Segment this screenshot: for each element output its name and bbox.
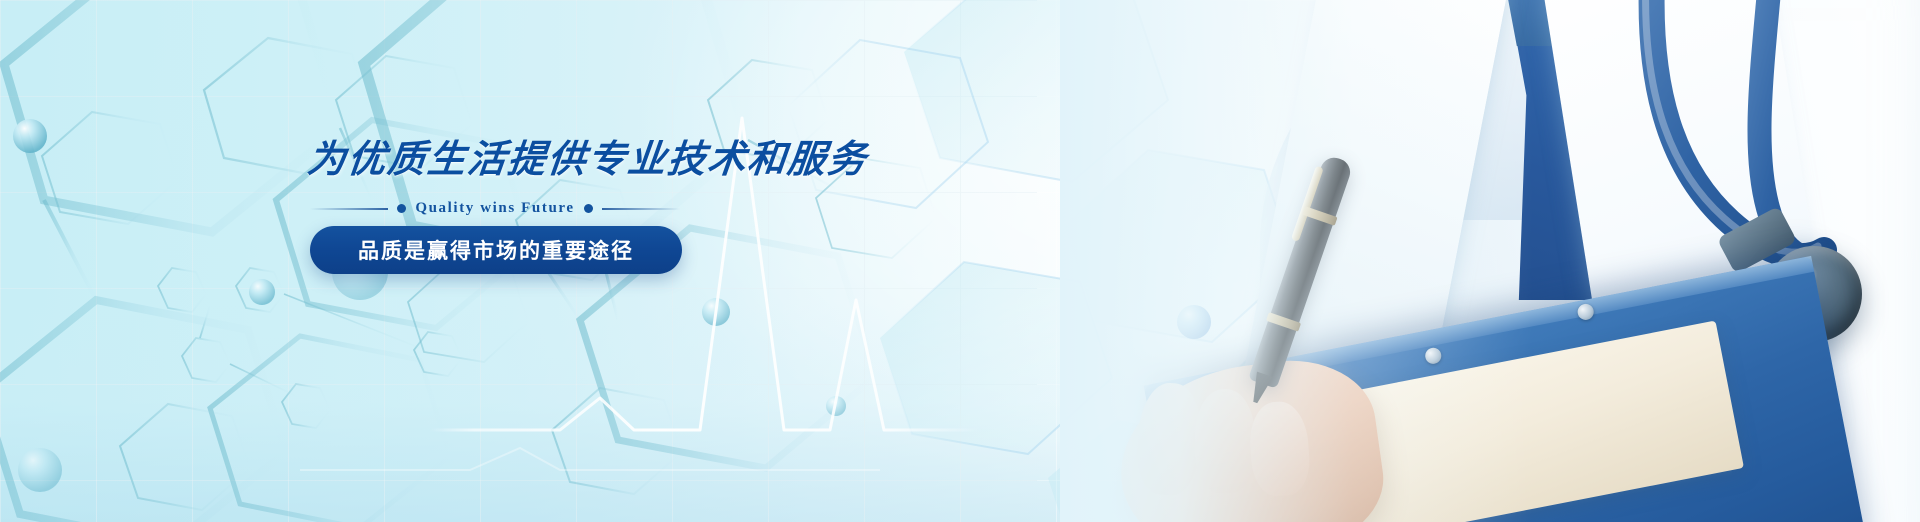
subtitle-row: Quality wins Future bbox=[310, 200, 680, 217]
hero-banner: 为优质生活提供专业技术和服务 Quality wins Future 品质是赢得… bbox=[0, 0, 1920, 522]
decorative-dot-right bbox=[584, 204, 593, 213]
decorative-dot-left bbox=[397, 204, 406, 213]
decorative-line-right bbox=[602, 208, 680, 210]
banner-content: 为优质生活提供专业技术和服务 Quality wins Future 品质是赢得… bbox=[0, 0, 1920, 522]
decorative-line-left bbox=[310, 208, 388, 210]
cta-button[interactable]: 品质是赢得市场的重要途径 bbox=[310, 226, 682, 274]
subtitle-en: Quality wins Future bbox=[415, 200, 574, 217]
page-title: 为优质生活提供专业技术和服务 bbox=[305, 128, 871, 183]
